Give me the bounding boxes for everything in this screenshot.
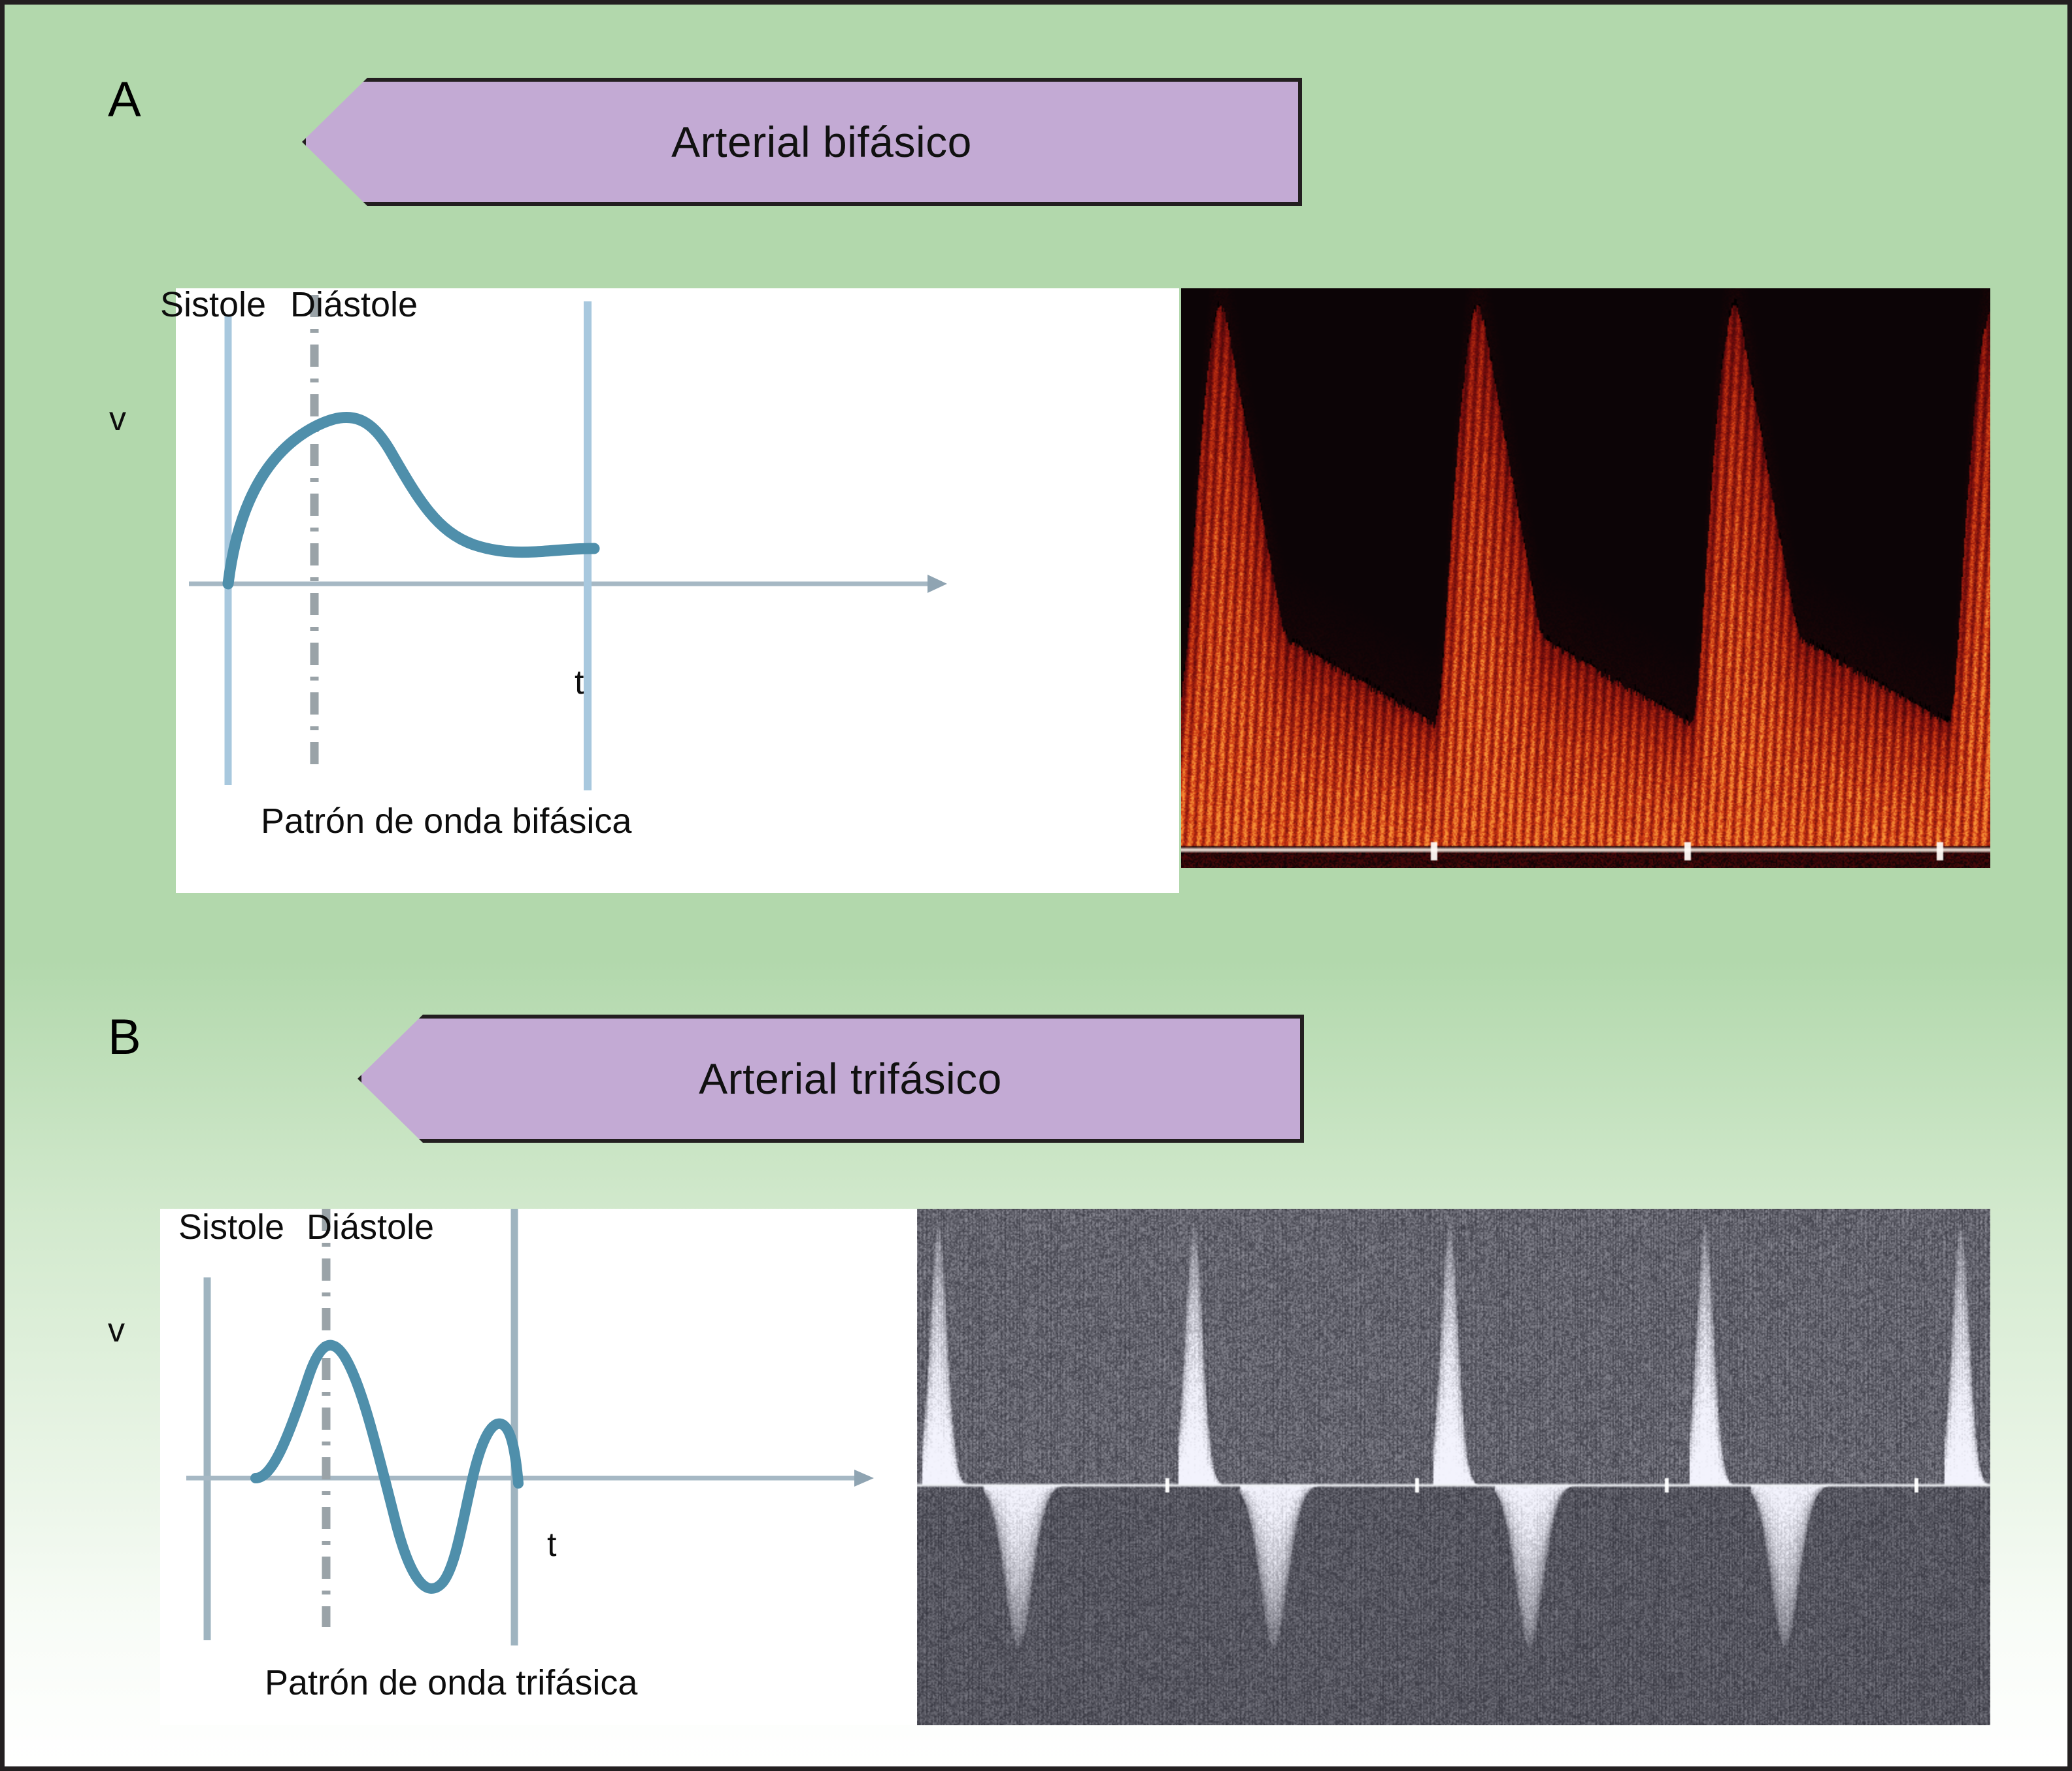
doppler-canvas-a	[1181, 288, 1990, 868]
banner-arterial-trifasico: Arterial trifásico	[358, 1015, 1304, 1143]
y-axis-label-a: v	[109, 402, 126, 436]
y-axis-label-b: v	[108, 1313, 125, 1347]
banner-label-b: Arterial trifásico	[660, 1054, 1002, 1104]
label-diastole-b: Diástole	[307, 1209, 434, 1245]
banner-arterial-bifasico: Arterial bifásico	[302, 78, 1302, 206]
biphasic-waveform-curve	[228, 417, 594, 584]
doppler-spectrum-triphasic	[917, 1209, 1990, 1725]
caption-triphasic: Patrón de onda trifásica	[265, 1665, 637, 1700]
panel-letter-b: B	[108, 1013, 141, 1062]
label-diastole-a: Diástole	[290, 287, 418, 322]
figure-root: A Arterial bifásico Sistole Diástole v t…	[0, 0, 2072, 1771]
doppler-spectrum-biphasic	[1181, 288, 1990, 868]
triphasic-waveform-plot	[160, 1209, 917, 1725]
panel-letter-a: A	[108, 75, 141, 125]
banner-label-a: Arterial bifásico	[632, 117, 972, 167]
triphasic-waveform-curve	[256, 1345, 518, 1589]
label-sistole-a: Sistole	[160, 287, 266, 322]
t-axis-arrowhead-b	[854, 1470, 874, 1487]
x-axis-label-b: t	[547, 1528, 556, 1562]
x-axis-label-a: t	[575, 666, 584, 700]
t-axis-arrowhead-a	[927, 575, 947, 593]
caption-biphasic: Patrón de onda bifásica	[261, 803, 631, 839]
doppler-canvas-b	[917, 1209, 1990, 1725]
label-sistole-b: Sistole	[178, 1209, 284, 1245]
